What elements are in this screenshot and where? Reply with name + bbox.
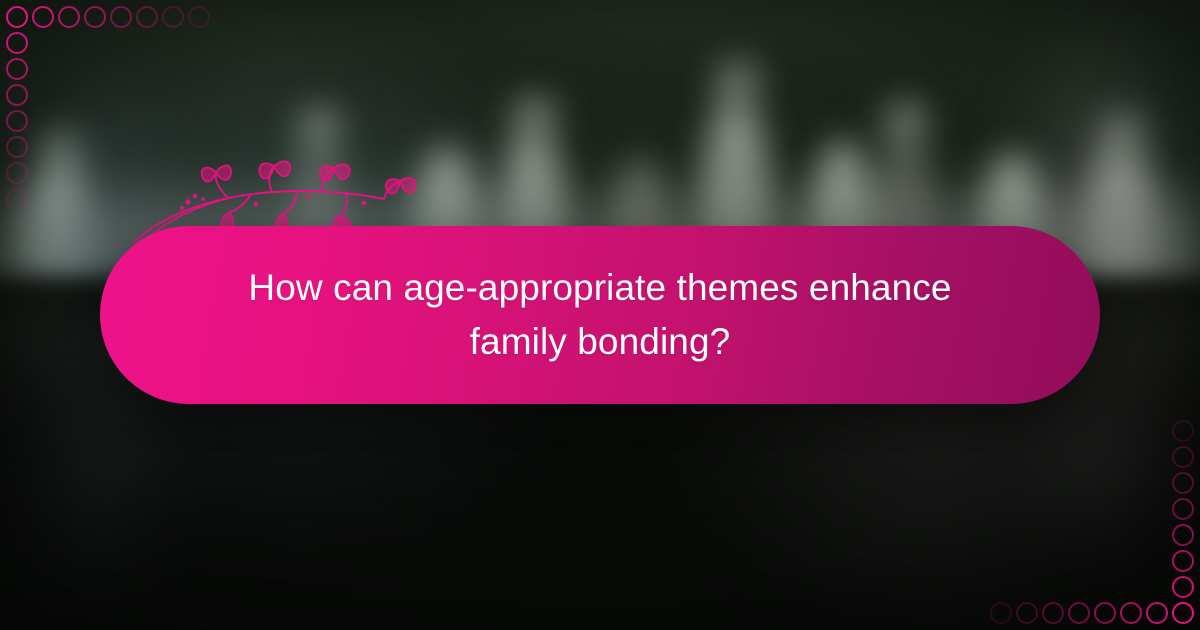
decorative-circle xyxy=(6,32,28,54)
decorative-circle xyxy=(1016,602,1038,624)
decorative-circle xyxy=(110,6,132,28)
quote-text: How can age-appropriate themes enhance f… xyxy=(220,261,980,368)
decorative-circle xyxy=(162,6,184,28)
decorative-circle xyxy=(6,110,28,132)
decorative-circle xyxy=(84,6,106,28)
decorative-circle xyxy=(58,6,80,28)
decorative-circle xyxy=(32,6,54,28)
decorative-circle xyxy=(6,136,28,158)
decorative-circle xyxy=(1068,602,1090,624)
dot-pattern-bottom-right-column xyxy=(1172,416,1194,624)
decorative-circle xyxy=(1172,472,1194,494)
decorative-circle xyxy=(6,58,28,80)
decorative-circle xyxy=(1172,498,1194,520)
decorative-circle xyxy=(6,162,28,184)
decorative-circle xyxy=(1172,550,1194,572)
decorative-circle xyxy=(1172,524,1194,546)
dot-pattern-top-left-row xyxy=(6,6,214,28)
decorative-circle xyxy=(1172,446,1194,468)
decorative-circle xyxy=(1120,602,1142,624)
decorative-circle xyxy=(1094,602,1116,624)
decorative-circle xyxy=(136,6,158,28)
dot-pattern-bottom-right-row xyxy=(986,602,1194,624)
decorative-circle xyxy=(1172,420,1194,442)
decorative-circle xyxy=(990,602,1012,624)
decorative-circle xyxy=(1042,602,1064,624)
decorative-circle xyxy=(6,84,28,106)
decorative-circle xyxy=(1146,602,1168,624)
decorative-circle xyxy=(188,6,210,28)
decorative-circle xyxy=(1172,576,1194,598)
dot-pattern-top-left-column xyxy=(6,6,28,214)
decorative-circle xyxy=(6,188,28,210)
social-quote-card: How can age-appropriate themes enhance f… xyxy=(0,0,1200,630)
quote-banner: How can age-appropriate themes enhance f… xyxy=(100,226,1100,404)
